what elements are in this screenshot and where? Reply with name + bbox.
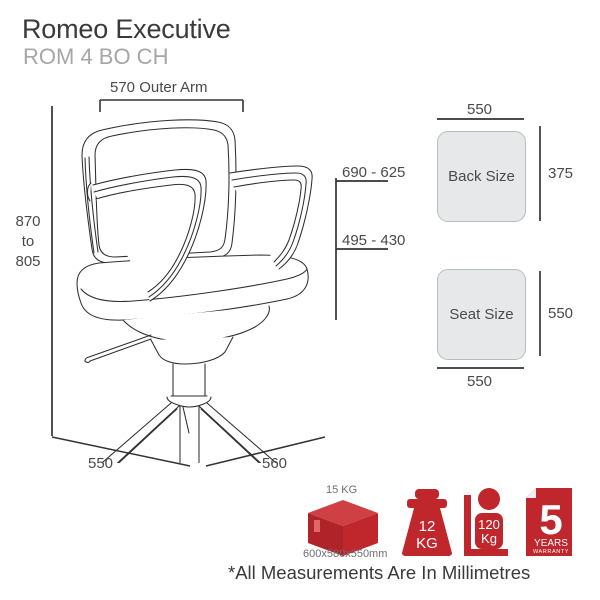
max-user-weight-icon: 120 Kg (460, 487, 512, 557)
warranty-badge-icon: 5 YEARS WARRANTY (522, 486, 576, 558)
carton-dimensions-caption: 600x580x550mm (303, 548, 387, 560)
warranty-sub-label: WARRANTY (533, 549, 569, 555)
carton-weight-caption: 15 KG (326, 484, 357, 496)
chair-illustration (55, 103, 355, 463)
dim-outer-arm: 570 Outer Arm (110, 79, 208, 96)
seat-size-width-label: 550 (467, 373, 492, 390)
dim-overall-height-sep: to (8, 232, 48, 252)
warranty-years-unit: YEARS (534, 538, 568, 549)
dim-overall-height-max: 870 (8, 212, 48, 232)
max-user-weight-value: 120 (478, 517, 500, 532)
spec-sheet: Romeo Executive ROM 4 BO CH (0, 0, 600, 600)
product-weight-icon: 12 KG (398, 487, 456, 557)
dim-overall-height-min: 805 (8, 252, 48, 272)
back-size-box-label: Back Size (448, 168, 515, 185)
product-weight-unit: KG (416, 535, 438, 552)
dim-seat-height-range: 495 - 430 (342, 232, 405, 249)
seat-size-box: Seat Size (437, 269, 526, 360)
dim-back-height-range: 690 - 625 (342, 164, 405, 181)
warranty-years-value: 5 (539, 496, 562, 543)
dim-base-width-left: 550 (88, 455, 113, 472)
seat-size-box-label: Seat Size (449, 306, 513, 323)
dim-overall-height: 870 to 805 (8, 212, 48, 272)
seat-size-height-label: 550 (548, 305, 573, 322)
back-size-width-label: 550 (467, 101, 492, 118)
back-size-box: Back Size (437, 131, 526, 222)
back-size-height-label: 375 (548, 165, 573, 182)
product-weight-value: 12 (419, 518, 436, 535)
measurements-footnote: *All Measurements Are In Millimetres (228, 562, 530, 584)
dim-base-width-right: 560 (262, 455, 287, 472)
max-user-weight-unit: Kg (481, 531, 497, 546)
